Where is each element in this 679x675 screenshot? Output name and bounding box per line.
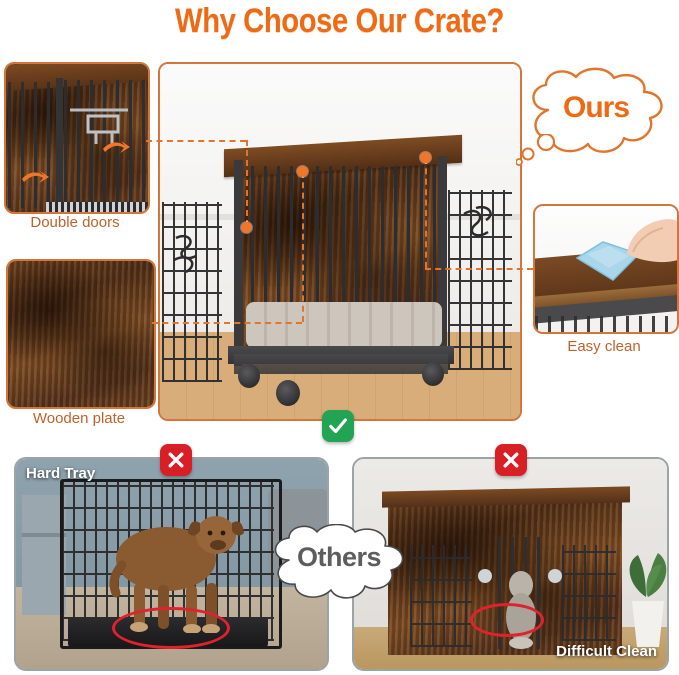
caster-wheel-front-left xyxy=(276,380,300,406)
infographic-root: Why Choose Our Crate? Double doors xyxy=(0,0,679,675)
difficult-clean-highlight-ellipse xyxy=(470,603,544,637)
left-mesh-wing xyxy=(162,202,222,382)
ours-speech-bubble: Ours xyxy=(518,66,674,170)
check-icon xyxy=(327,415,349,437)
page-title: Why Choose Our Crate? xyxy=(48,2,632,41)
door-frame-post xyxy=(56,78,63,212)
caster-wheel-back-right xyxy=(422,362,444,386)
under-bars xyxy=(535,316,677,332)
hard-tray-highlight-ellipse xyxy=(112,607,230,649)
cross-icon xyxy=(166,450,186,470)
hand-icon xyxy=(617,214,679,272)
bottom-rail xyxy=(46,202,148,212)
latch-hook-right-icon xyxy=(460,204,500,250)
crate-cushion xyxy=(246,302,442,348)
frame-post-left xyxy=(234,160,243,366)
connector-double-doors-v xyxy=(246,140,248,226)
feature-panel-double-doors xyxy=(4,62,150,214)
caption-easy-clean: Easy clean xyxy=(533,338,675,355)
right-door-mesh xyxy=(562,545,616,641)
crate-lower-frame xyxy=(234,354,448,374)
arrow-right-icon-upper xyxy=(101,138,131,156)
wooden-plate-photo xyxy=(8,261,154,407)
arrow-right-icon-lower xyxy=(20,168,50,186)
feature-panel-wooden-plate xyxy=(6,259,156,409)
left-door-mesh xyxy=(410,545,472,647)
caster-wheel-back-left xyxy=(238,364,260,388)
left-door-bars xyxy=(8,82,56,208)
connector-easy-clean-h xyxy=(425,268,533,270)
connector-wooden-plate-v xyxy=(302,172,304,322)
caption-wooden-plate: Wooden plate xyxy=(6,410,152,427)
main-product-panel xyxy=(158,62,522,421)
others-speech-bubble: Others xyxy=(263,524,415,608)
connector-dot-wooden-plate xyxy=(297,166,308,177)
caption-difficult-clean: Difficult Clean xyxy=(556,643,657,660)
feature-panel-easy-clean xyxy=(533,204,679,334)
door-latch-right xyxy=(548,569,562,583)
door-latch-left xyxy=(478,569,492,583)
cross-icon xyxy=(501,450,521,470)
connector-dot-easy-clean xyxy=(420,152,431,163)
bubble-tail-icon xyxy=(516,134,562,168)
difficult-clean-cross-badge xyxy=(495,444,527,476)
connector-double-doors-h xyxy=(146,140,246,142)
others-bubble-label: Others xyxy=(269,524,409,590)
connector-easy-clean-v xyxy=(425,158,427,268)
connector-dot-double-doors xyxy=(241,222,252,233)
hard-tray-cross-badge xyxy=(160,444,192,476)
latch-hook-left-icon xyxy=(170,230,204,280)
connector-wooden-plate-h xyxy=(152,322,302,324)
potted-plant-icon xyxy=(618,543,669,651)
caption-double-doors: Double doors xyxy=(4,214,146,231)
ours-check-badge xyxy=(322,410,354,442)
caption-hard-tray: Hard Tray xyxy=(26,465,95,482)
